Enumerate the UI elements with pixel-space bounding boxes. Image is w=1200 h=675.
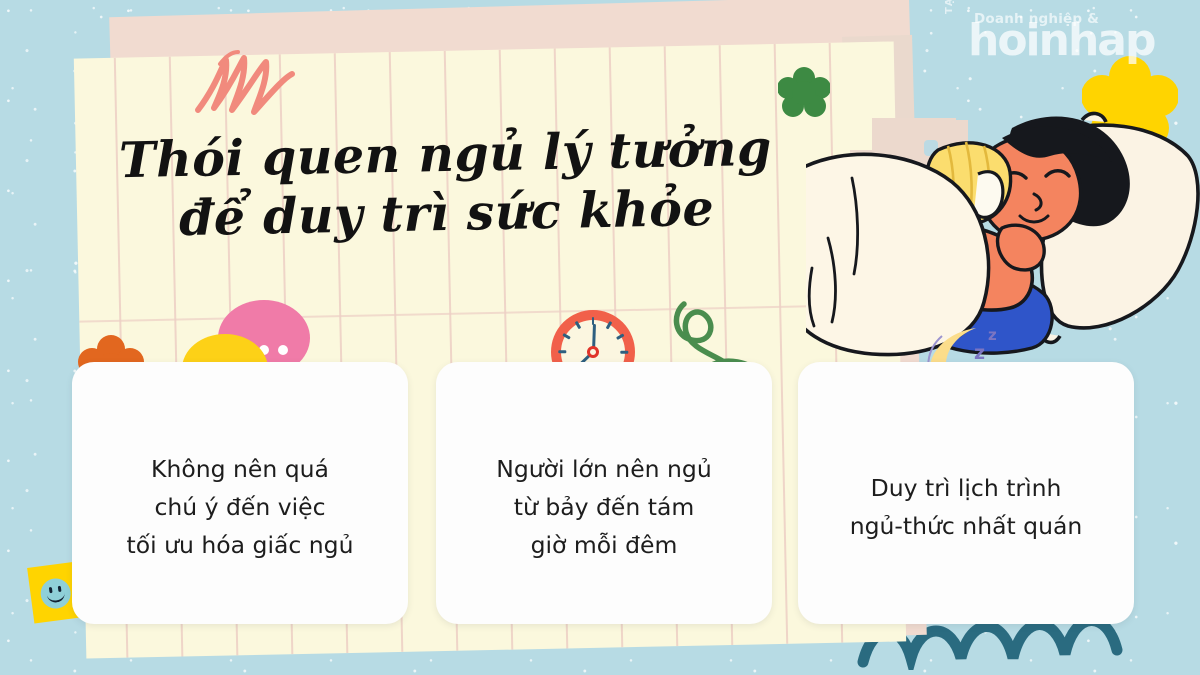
tip-card-1[interactable]: Không nên quá chú ý đến việc tối ưu hóa … — [72, 362, 408, 624]
title-line-2: để duy trì sức khỏe — [96, 180, 797, 246]
title-line-1: Thói quen ngủ lý tưởng — [95, 121, 796, 187]
pink-scribble-icon — [188, 46, 308, 118]
sleeping-person-illustration — [806, 58, 1200, 403]
smiley-face-icon — [39, 577, 73, 611]
tip-card-2-text: Người lớn nên ngủ từ bảy đến tám giờ mỗi… — [478, 450, 729, 564]
tip-card-2[interactable]: Người lớn nên ngủ từ bảy đến tám giờ mỗi… — [436, 362, 772, 624]
tip-card-3-text: Duy trì lịch trình ngủ-thức nhất quán — [832, 469, 1101, 545]
infographic-canvas: z z z Thói quen ngủ lý tưởng để duy trì … — [0, 0, 1200, 675]
page-title: Thói quen ngủ lý tưởng để duy trì sức kh… — [95, 121, 797, 246]
tip-card-1-text: Không nên quá chú ý đến việc tối ưu hóa … — [109, 450, 372, 564]
tip-card-3[interactable]: Duy trì lịch trình ngủ-thức nhất quán — [798, 362, 1134, 624]
